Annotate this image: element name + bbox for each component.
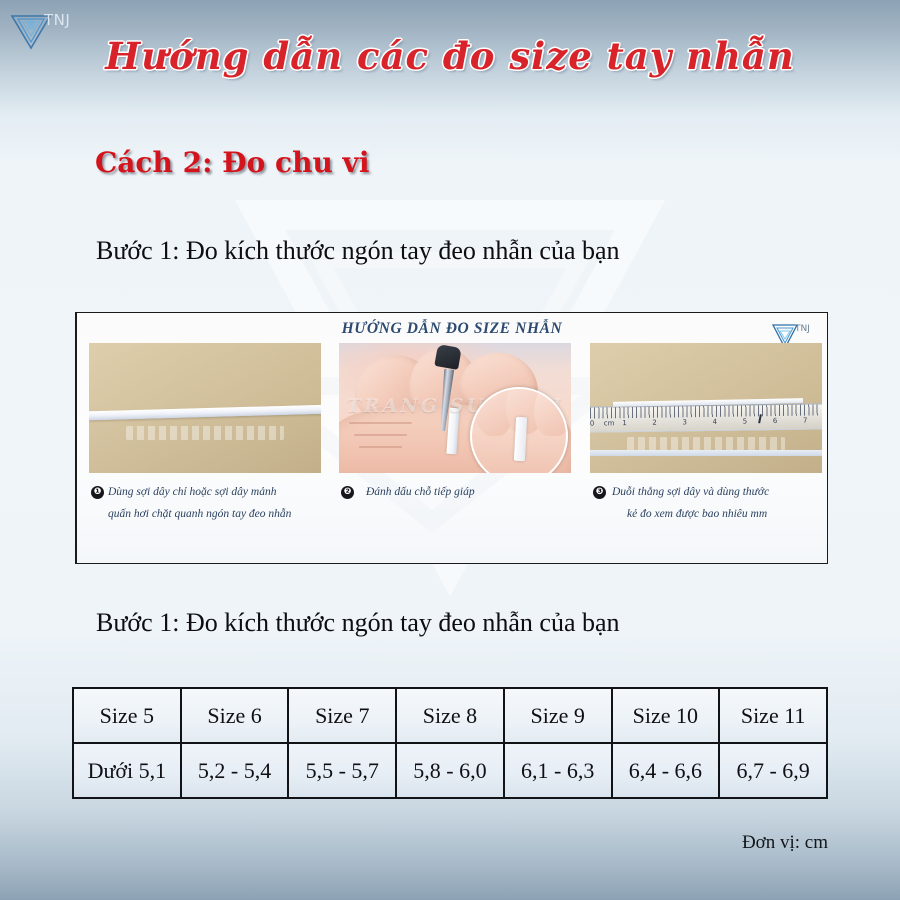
- step-line-top: Bước 1: Đo kích thước ngón tay đeo nhẫn …: [96, 236, 620, 266]
- photo-caption-2: ❷Đánh dấu chỗ tiếp giáp: [341, 481, 581, 503]
- pen-cap-icon: [435, 344, 462, 370]
- table-value-cell: 6,1 - 6,3: [504, 743, 612, 798]
- ruler-icon: 0 cm 1 2 3 4 5 6 7: [590, 404, 822, 433]
- ruler-numbers: 0 cm 1 2 3 4 5 6 7: [590, 417, 822, 432]
- photo-step-3: 0 cm 1 2 3 4 5 6 7: [590, 343, 822, 473]
- table-header-cell: Size 11: [719, 688, 827, 743]
- table-value-cell: 5,8 - 6,0: [396, 743, 504, 798]
- table-value-cell: 5,5 - 5,7: [288, 743, 396, 798]
- caption-number-3: ❸: [593, 486, 606, 499]
- table-header-cell: Size 6: [181, 688, 289, 743]
- brand-logo: TNJ: [6, 2, 86, 54]
- zoom-inset-circle: [470, 387, 568, 473]
- photo-bottom-band: [590, 450, 822, 456]
- guide-panel: HƯỚNG DẪN ĐO SIZE NHẪN TNJ: [75, 312, 828, 564]
- table-value-cell: 6,4 - 6,6: [612, 743, 720, 798]
- table-row-headers: Size 5 Size 6 Size 7 Size 8 Size 9 Size …: [73, 688, 827, 743]
- paper-strip-zoomed: [514, 417, 527, 462]
- photo-caption-3: ❸Duỗi thẳng sợi dây và dùng thước kẻ đo …: [593, 481, 828, 526]
- caption-number-2: ❷: [341, 486, 354, 499]
- table-header-cell: Size 7: [288, 688, 396, 743]
- photo-caption-1: ❶Dùng sợi dây chỉ hoặc sợi dây mảnh quấn…: [91, 481, 331, 526]
- unit-note: Đơn vị: cm: [742, 832, 828, 854]
- page-title: Hướng dẫn các đo size tay nhẫn: [0, 34, 900, 78]
- caption-line-2: quấn hơi chặt quanh ngón tay đeo nhẫn: [108, 503, 331, 525]
- table-header-cell: Size 9: [504, 688, 612, 743]
- photo-watermark-3: [627, 437, 785, 451]
- caption-number-1: ❶: [91, 486, 104, 499]
- caption-line-1: Duỗi thẳng sợi dây và dùng thước: [612, 486, 769, 498]
- table-value-cell: 5,2 - 5,4: [181, 743, 289, 798]
- photo-watermark-1: [126, 426, 284, 440]
- table-row-values: Dưới 5,1 5,2 - 5,4 5,5 - 5,7 5,8 - 6,0 6…: [73, 743, 827, 798]
- table-value-cell: Dưới 5,1: [73, 743, 181, 798]
- step-line-bottom: Bước 1: Đo kích thước ngón tay đeo nhẫn …: [96, 608, 620, 638]
- brand-logo-text: TNJ: [43, 11, 70, 29]
- caption-line-1: Đánh dấu chỗ tiếp giáp: [366, 486, 475, 498]
- panel-logo-text: TNJ: [794, 324, 810, 334]
- photo-row: TRANG SUC TNJ 0 cm 1 2 3 4: [77, 343, 827, 473]
- caption-line-1: Dùng sợi dây chỉ hoặc sợi dây mảnh: [108, 486, 276, 498]
- section-heading: Cách 2: Đo chu vi: [95, 146, 369, 179]
- table-header-cell: Size 5: [73, 688, 181, 743]
- table-header-cell: Size 10: [612, 688, 720, 743]
- size-table: Size 5 Size 6 Size 7 Size 8 Size 9 Size …: [72, 687, 828, 799]
- photo-step-1: [89, 343, 321, 473]
- photo-step-2: TRANG SUC TNJ: [339, 343, 571, 473]
- table-header-cell: Size 8: [396, 688, 504, 743]
- panel-title: HƯỚNG DẪN ĐO SIZE NHẪN: [77, 320, 827, 338]
- caption-line-2: kẻ đo xem được bao nhiêu mm: [627, 503, 828, 525]
- table-value-cell: 6,7 - 6,9: [719, 743, 827, 798]
